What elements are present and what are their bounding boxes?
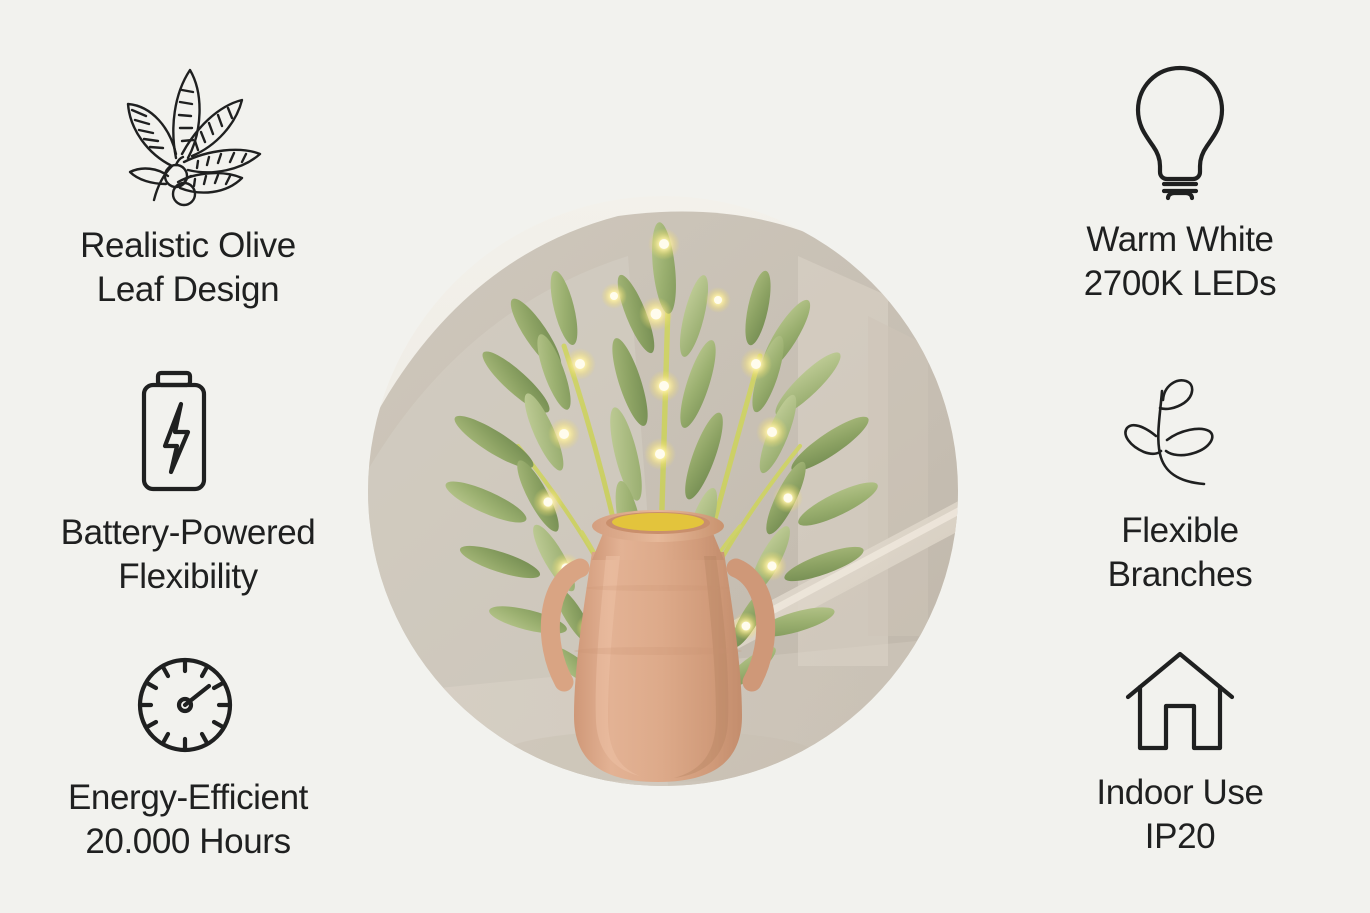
feature-label: Warm White 2700K LEDs — [1084, 218, 1277, 306]
olive-branch-icon — [108, 58, 268, 208]
flexible-branch-icon — [1120, 378, 1240, 493]
hero-scene-illustration — [368, 196, 958, 786]
feature-flexible-branches: Flexible Branches — [990, 378, 1370, 597]
feature-warm-white-2700k-leds: Warm White 2700K LEDs — [990, 62, 1370, 306]
feature-label: Realistic Olive Leaf Design — [80, 224, 296, 312]
feature-battery-powered-flexibility: Battery-Powered Flexibility — [0, 370, 378, 599]
feature-label: Flexible Branches — [1108, 509, 1253, 597]
feature-label: Battery-Powered Flexibility — [61, 511, 316, 599]
feature-realistic-olive-leaf-design: Realistic Olive Leaf Design — [0, 58, 378, 312]
feature-label: Indoor Use IP20 — [1096, 771, 1263, 859]
feature-indoor-use-ip20: Indoor Use IP20 — [990, 650, 1370, 859]
feature-label: Energy-Efficient 20.000 Hours — [68, 776, 308, 864]
house-icon — [1120, 650, 1240, 755]
infographic-canvas: Realistic Olive Leaf Design Battery-Powe… — [0, 0, 1370, 913]
light-bulb-icon — [1120, 62, 1240, 202]
feature-energy-efficient-hours: Energy-Efficient 20.000 Hours — [0, 650, 378, 864]
hero-product-photo — [368, 196, 958, 786]
battery-bolt-icon — [128, 370, 248, 495]
clock-icon — [133, 650, 243, 760]
